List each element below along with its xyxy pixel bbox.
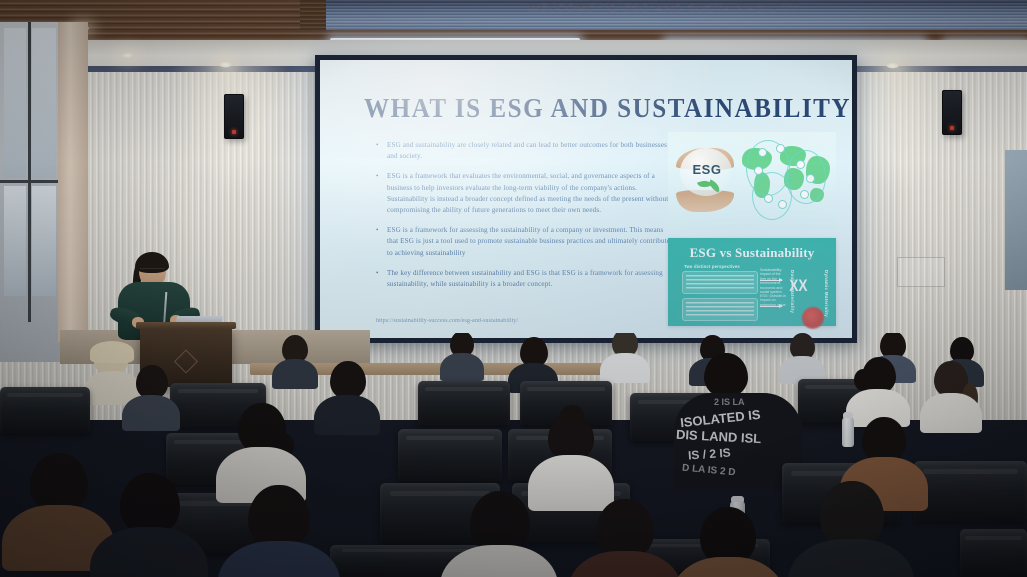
jacket-pattern-text: IS / 2 IS: [688, 446, 732, 463]
head: [120, 473, 180, 535]
wall-plaque: [897, 257, 945, 287]
infographic-note-top: Sustainability: impact of the firm on th…: [760, 268, 786, 294]
head: [704, 353, 748, 397]
jacket-pattern-text: 2 IS LA: [714, 397, 745, 407]
infographic-subtitle: Two distinct perspectives: [684, 264, 740, 269]
window-mullion: [0, 180, 60, 183]
ceiling-downlight: [885, 62, 900, 69]
head: [820, 481, 884, 547]
shoulders: [920, 393, 982, 433]
seat: [960, 529, 1027, 577]
materiality-cross-symbol: XX: [790, 276, 808, 296]
slide-source-link[interactable]: https://sustainability-success.com/esg-a…: [376, 318, 518, 324]
presentation-slide: WHAT IS ESG AND SUSTAINABILITY ESG and s…: [320, 60, 852, 338]
head: [470, 491, 530, 553]
slide-bullet: ESG is a framework that evaluates the en…: [376, 171, 676, 216]
window-pane: [4, 186, 26, 296]
card-text-lines: [686, 275, 754, 290]
hair-bun: [854, 369, 872, 391]
projection-screen: WHAT IS ESG AND SUSTAINABILITY ESG and s…: [315, 55, 857, 343]
shoulders: [600, 353, 650, 383]
bottle-cap: [731, 496, 744, 502]
world-map-graphic: [740, 138, 834, 224]
esg-illustration: ESG: [668, 132, 836, 230]
bottle-cap: [843, 412, 853, 418]
window-mullion: [28, 22, 31, 322]
head: [30, 453, 88, 513]
wall-pillar: [58, 22, 88, 342]
slide-bullet: The key difference between sustainabilit…: [376, 268, 676, 290]
slide-bullet-list: ESG and sustainability are closely relat…: [376, 140, 676, 299]
sustainability-node-icon: [796, 160, 805, 169]
hat-icon: [90, 341, 134, 363]
right-window: [1005, 150, 1027, 290]
shoulders: [122, 395, 180, 431]
sustainability-node-icon: [758, 148, 767, 157]
shoulders: [272, 359, 318, 389]
sustainability-node-icon: [806, 174, 815, 183]
left-wall-speaker-icon: [224, 94, 244, 139]
head: [248, 485, 310, 549]
infographic-card: [682, 298, 758, 321]
podium-top-surface: [136, 322, 236, 329]
stage-banner: WELCOME TO ESG AND SUSTAINABILITY: [300, 0, 1027, 30]
ceiling-downlight: [218, 61, 233, 68]
shoulders: [528, 455, 614, 511]
hair-bun: [560, 405, 584, 425]
sustainability-node-icon: [764, 194, 773, 203]
right-wall-speaker-icon: [942, 90, 962, 135]
shoulders: [314, 395, 380, 435]
window-pane: [32, 186, 56, 296]
jacket-pattern-text: DIS LAND ISL: [676, 427, 762, 446]
left-window-wall: [0, 22, 60, 362]
lecture-hall-photo: WELCOME TO ESG AND SUSTAINABILITY WHAT I…: [0, 0, 1027, 577]
glasses-icon: [140, 268, 165, 273]
seat: [914, 461, 1027, 521]
jacket-pattern-text: D LA IS 2 D: [682, 463, 736, 479]
seat: [418, 381, 510, 425]
seat: [398, 429, 502, 481]
head: [596, 499, 654, 559]
infographic-note-bottom: ESG: Outside-in impact on enterprise val…: [760, 294, 786, 307]
sustainability-node-icon: [800, 190, 809, 199]
sustainability-node-icon: [778, 200, 787, 209]
audience-area: ISOLATED IS DIS LAND ISL IS / 2 IS D LA …: [0, 333, 1027, 577]
red-marker-dot: [802, 307, 824, 329]
infographic-card: [682, 271, 758, 294]
window-pane: [32, 28, 56, 178]
head: [330, 361, 366, 399]
axis-label-right: Dynamic Materiality: [824, 270, 829, 317]
seat: [0, 387, 90, 433]
banner-text: WELCOME TO ESG AND SUSTAINABILITY: [300, 1, 1027, 13]
card-text-lines: [686, 302, 754, 317]
ceiling-downlight: [120, 52, 135, 59]
shoulders: [440, 353, 484, 381]
sustainability-node-icon: [776, 144, 785, 153]
esg-label: ESG: [684, 162, 730, 177]
water-bottle: [842, 417, 854, 447]
sustainability-node-icon: [754, 166, 763, 175]
head: [136, 365, 168, 399]
banner-wood-edge: [300, 0, 326, 30]
window-pane: [4, 28, 26, 178]
shoulders: [788, 539, 914, 577]
infographic-title: ESG vs Sustainability: [668, 245, 836, 261]
slide-bullet: ESG and sustainability are closely relat…: [376, 140, 676, 162]
slide-bullet: ESG is a framework for assessing the sus…: [376, 225, 676, 259]
slide-title: WHAT IS ESG AND SUSTAINABILITY: [364, 93, 851, 124]
